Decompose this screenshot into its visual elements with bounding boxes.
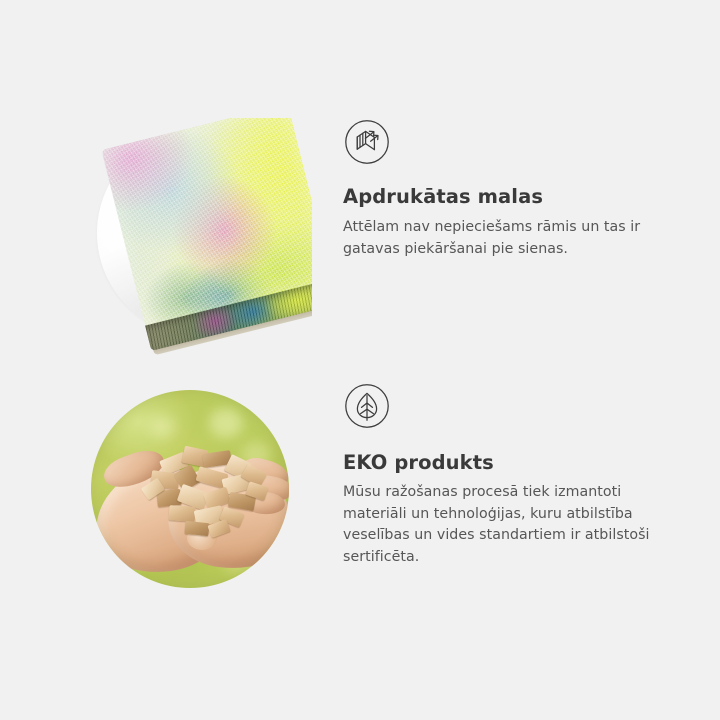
bokeh-highlight <box>241 442 271 468</box>
wood-chip <box>221 473 250 495</box>
bokeh-highlight <box>149 416 175 438</box>
thumb <box>100 444 169 493</box>
feature-image-printed-edges <box>0 118 310 348</box>
wood-chip <box>196 466 229 489</box>
wood-chip <box>169 505 196 522</box>
wood-chip <box>207 519 230 538</box>
feature-text-eko-product: EKO produkts Mūsu ražošanas procesā tiek… <box>343 382 688 568</box>
thumb-knuckle <box>187 526 217 550</box>
canvas-print-block <box>101 118 312 330</box>
feature-description: Mūsu ražošanas procesā tiek izmantoti ma… <box>343 482 683 568</box>
feature-description: Attēlam nav nepieciešams rāmis un tas ir… <box>343 217 683 260</box>
wood-chip <box>241 464 268 488</box>
canvas-photo-clip <box>97 118 312 358</box>
eko-photo-disc <box>91 390 289 588</box>
feature-printed-edges: Apdrukātas malas Attēlam nav nepieciešam… <box>0 118 720 348</box>
bokeh-highlight <box>223 550 253 574</box>
wood-chip <box>141 478 165 501</box>
wood-chip <box>194 505 225 526</box>
finger <box>242 491 285 516</box>
feature-image-eko-product <box>0 382 310 597</box>
feature-title: EKO produkts <box>343 451 688 475</box>
feature-eko-product: EKO produkts Mūsu ražošanas procesā tiek… <box>0 382 720 597</box>
wood-chip <box>245 481 268 500</box>
product-feature-page: Apdrukātas malas Attēlam nav nepieciešam… <box>0 0 720 720</box>
feature-title: Apdrukātas malas <box>343 185 688 209</box>
canvas-wrapped-edge-icon <box>343 118 391 166</box>
wood-chip <box>219 506 245 527</box>
wood-chip <box>203 487 231 510</box>
wood-chip <box>184 521 209 536</box>
wood-chip <box>159 452 189 476</box>
finger <box>238 454 289 492</box>
wood-chip <box>202 450 232 468</box>
wood-chip <box>156 489 182 507</box>
right-hand <box>164 458 289 574</box>
bokeh-highlight <box>209 408 243 438</box>
wood-chip <box>177 484 209 510</box>
wood-chip <box>150 470 180 490</box>
wood-chip <box>224 454 252 480</box>
wood-chip <box>173 464 200 491</box>
wood-chip <box>228 492 256 511</box>
finger <box>245 472 289 504</box>
leaf-icon <box>343 382 391 430</box>
left-hand <box>91 461 229 580</box>
feature-text-printed-edges: Apdrukātas malas Attēlam nav nepieciešam… <box>343 118 688 260</box>
wood-chip <box>181 446 208 468</box>
